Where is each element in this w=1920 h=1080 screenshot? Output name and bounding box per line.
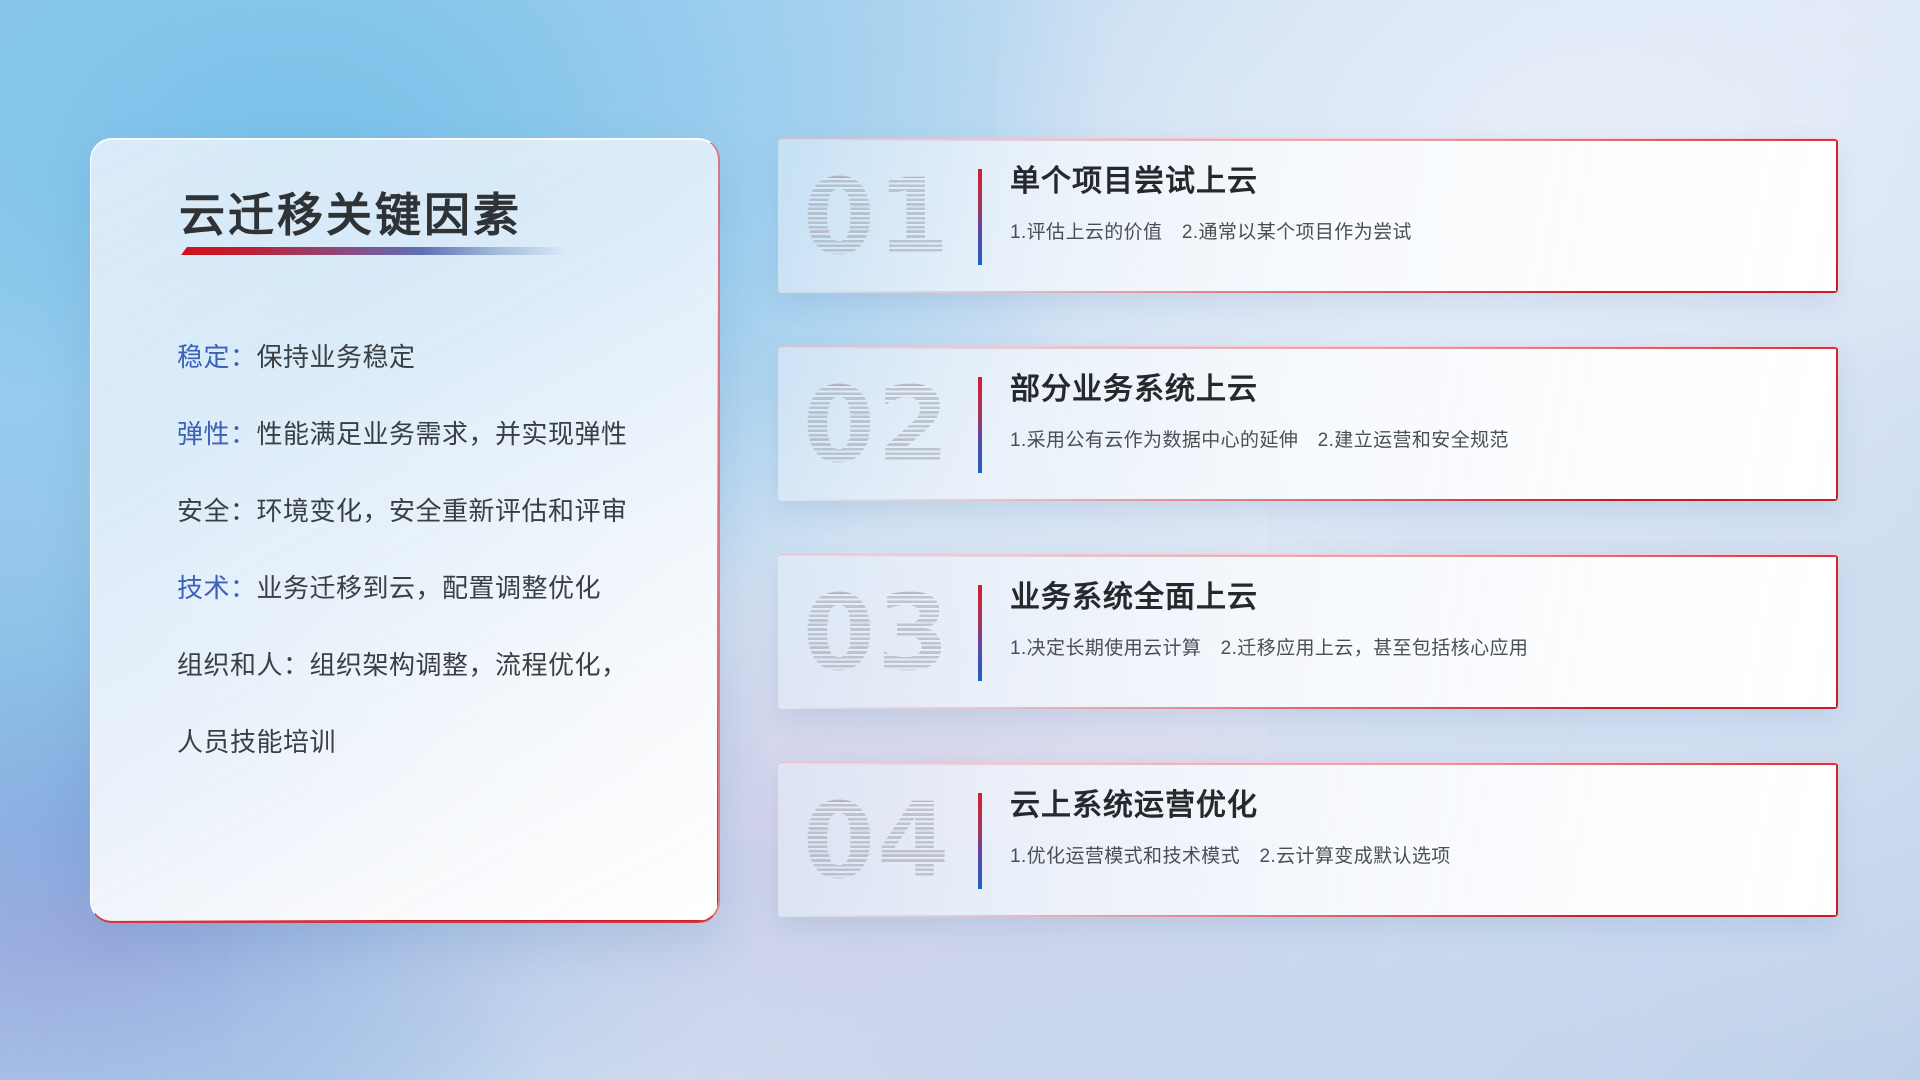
stage-subtitle: 1.采用公有云作为数据中心的延伸 2.建立运营和安全规范 (1010, 425, 1798, 452)
stage-subtitle: 1.优化运营模式和技术模式 2.云计算变成默认选项 (1010, 841, 1798, 868)
factor-label: 弹性： (177, 419, 257, 449)
key-factors-list: 稳定：保持业务稳定 弹性：性能满足业务需求，并实现弹性 安全：环境变化，安全重新… (177, 344, 694, 755)
stage-title: 云上系统运营优化 (1010, 787, 1798, 825)
stage-card-body: 业务系统全面上云 1.决定长期使用云计算 2.迁移应用上云，甚至包括核心应用 (1010, 579, 1798, 660)
panel-title: 云迁移关键因素 (179, 179, 522, 245)
stage-card[interactable]: 02 02 部分业务系统上云 1.采用公有云作为数据中心的延伸 2.建立运营和安… (778, 346, 1838, 501)
stage-title: 业务系统全面上云 (1010, 579, 1798, 617)
stage-subtitle: 1.评估上云的价值 2.通常以某个项目作为尝试 (1010, 217, 1798, 244)
stage-title: 单个项目尝试上云 (1010, 163, 1798, 201)
key-factors-panel: 云迁移关键因素 稳定：保持业务稳定 弹性：性能满足业务需求，并实现弹性 安全：环… (90, 138, 720, 923)
factor-item: 技术：业务迁移到云，配置调整优化 (177, 575, 694, 601)
stage-card[interactable]: 03 03 业务系统全面上云 1.决定长期使用云计算 2.迁移应用上云，甚至包括… (778, 554, 1838, 709)
factor-item: 安全：环境变化，安全重新评估和评审 (177, 498, 694, 524)
factor-label: 组织和人： (177, 650, 310, 680)
slide-stage: 云迁移关键因素 稳定：保持业务稳定 弹性：性能满足业务需求，并实现弹性 安全：环… (0, 0, 1920, 1080)
factor-value: 组织架构调整，流程优化， (310, 650, 628, 680)
stage-card[interactable]: 04 04 云上系统运营优化 1.优化运营模式和技术模式 2.云计算变成默认选项 (778, 762, 1838, 917)
stage-divider-bar (978, 377, 982, 473)
card-top-accent-line (778, 347, 1838, 349)
factor-value: 业务迁移到云，配置调整优化 (257, 573, 602, 603)
stage-divider-bar (978, 793, 982, 889)
stage-number: 04 (802, 779, 952, 903)
factor-item: 组织和人：组织架构调整，流程优化， (177, 652, 694, 678)
factor-item: 稳定：保持业务稳定 (177, 344, 694, 370)
stage-number: 02 (802, 363, 952, 487)
stage-card-body: 单个项目尝试上云 1.评估上云的价值 2.通常以某个项目作为尝试 (1010, 163, 1798, 244)
stage-subtitle: 1.决定长期使用云计算 2.迁移应用上云，甚至包括核心应用 (1010, 633, 1798, 660)
factor-item: 弹性：性能满足业务需求，并实现弹性 (177, 421, 694, 447)
stage-title: 部分业务系统上云 (1010, 371, 1798, 409)
factor-value: 环境变化，安全重新评估和评审 (257, 496, 628, 526)
factor-label: 技术： (177, 573, 257, 603)
stage-number: 01 (802, 155, 952, 279)
stage-number: 03 (802, 571, 952, 695)
factor-value: 人员技能培训 (177, 727, 336, 757)
stage-card-body: 云上系统运营优化 1.优化运营模式和技术模式 2.云计算变成默认选项 (1010, 787, 1798, 868)
stage-card-body: 部分业务系统上云 1.采用公有云作为数据中心的延伸 2.建立运营和安全规范 (1010, 371, 1798, 452)
factor-value: 保持业务稳定 (257, 342, 416, 372)
stage-card[interactable]: 01 01 单个项目尝试上云 1.评估上云的价值 2.通常以某个项目作为尝试 (778, 138, 1838, 293)
card-top-accent-line (778, 763, 1838, 765)
factor-value: 性能满足业务需求，并实现弹性 (257, 419, 628, 449)
cloud-migration-stage-cards: 01 01 单个项目尝试上云 1.评估上云的价值 2.通常以某个项目作为尝试 0… (778, 138, 1838, 970)
card-top-accent-line (778, 555, 1838, 557)
title-underline-rule (181, 247, 569, 255)
stage-divider-bar (978, 585, 982, 681)
factor-label: 安全： (177, 496, 257, 526)
stage-divider-bar (978, 169, 982, 265)
factor-label: 稳定： (177, 342, 257, 372)
card-top-accent-line (778, 139, 1838, 141)
factor-item-continuation: 人员技能培训 (177, 729, 694, 755)
